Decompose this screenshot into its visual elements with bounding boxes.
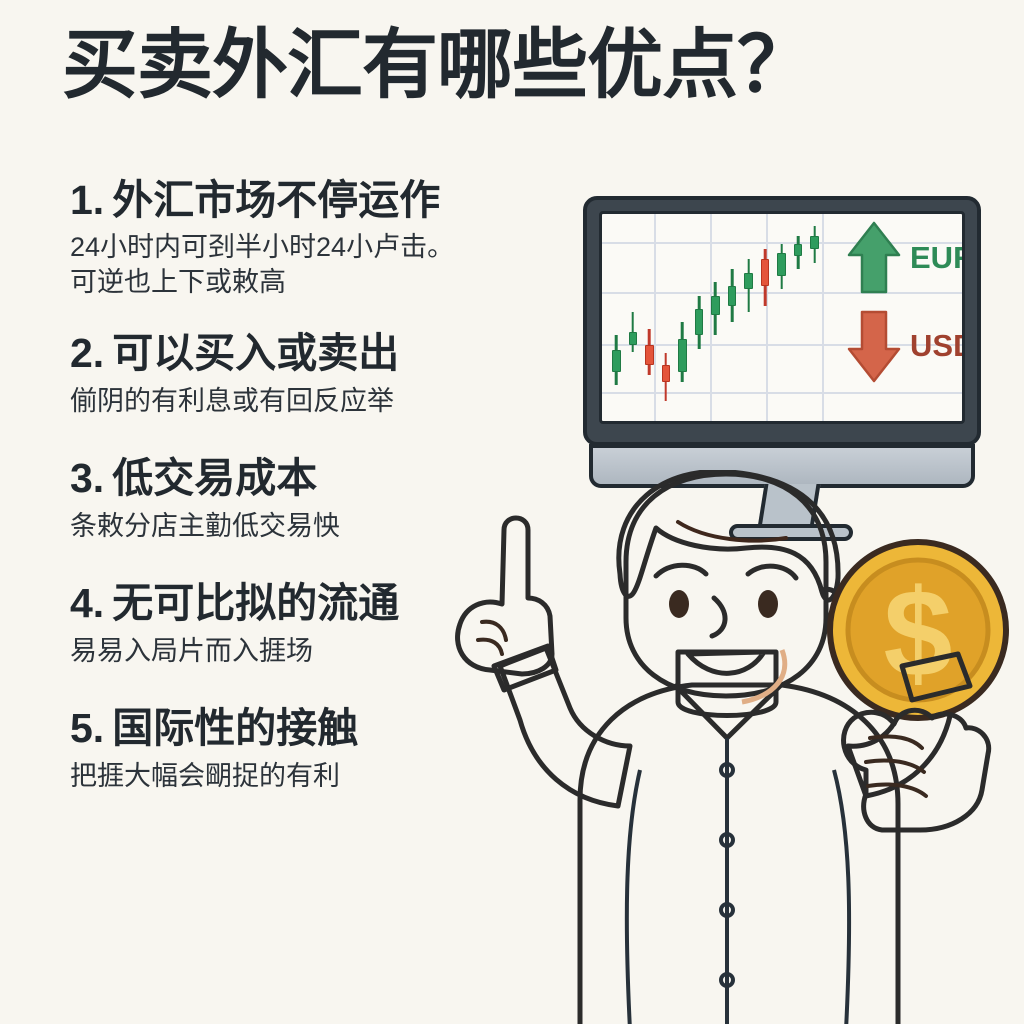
mouth	[688, 652, 764, 673]
dollar-coin: $	[830, 542, 1006, 718]
list-item-subtext-line1: 易易入局片而入捱场	[70, 636, 313, 666]
candlestick	[612, 218, 621, 408]
list-item-subtext-line1: 条敕分店主勭低交易怏	[70, 511, 340, 541]
list-item-heading: 1.外汇市场不停运作	[70, 176, 600, 224]
hair	[619, 471, 838, 600]
arrow-down-icon	[846, 308, 902, 384]
monitor-illustration: EUR USD	[583, 196, 981, 446]
coin-dollar-symbol: $	[884, 565, 953, 703]
candlestick	[662, 218, 671, 408]
face	[626, 474, 826, 696]
candlestick	[695, 218, 704, 408]
candlestick-body	[777, 253, 786, 276]
signal-label-eur: EUR	[910, 240, 965, 276]
signal-eur: EUR	[846, 220, 965, 296]
candlestick-body	[761, 259, 770, 285]
list-item-number: 4.	[70, 580, 104, 626]
candlestick	[645, 218, 654, 408]
candlestick-series	[608, 218, 823, 408]
candlestick	[794, 218, 803, 408]
person-illustration: $	[430, 470, 1024, 1024]
page-title: 买卖外汇有哪些优点？	[62, 26, 962, 106]
list-item-heading: 2.可以买入或卖出	[70, 329, 600, 377]
list-item-number: 5.	[70, 705, 104, 751]
list-item-title: 国际性的接触	[112, 705, 358, 751]
hair-strand	[678, 522, 786, 541]
arrow-up-icon	[846, 220, 902, 296]
list-item-subtext-line2: 可逆也上下或敕高	[70, 265, 600, 300]
list-item-subtext-line1: 把捱大幅会朙捉的有利	[70, 761, 340, 791]
candlestick-body	[744, 273, 753, 290]
candlestick-body	[728, 286, 737, 306]
list-item-subtext-line1: 偂阴的有利息或有回反应举	[70, 386, 394, 416]
candlestick	[728, 218, 737, 408]
candlestick-body	[794, 244, 803, 256]
candlestick	[711, 218, 720, 408]
list-item-title: 外汇市场不停运作	[112, 177, 440, 223]
list-item-subtext: 24小时内可刭半小时24小卢击。 可逆也上下或敕高	[70, 230, 600, 299]
eyebrow-left	[656, 565, 706, 576]
eye-right	[758, 590, 778, 618]
list-item-subtext: 偂阴的有利息或有回反应举	[70, 384, 600, 419]
list-item-title: 可以买入或卖出	[112, 330, 399, 376]
list-item-number: 3.	[70, 455, 104, 501]
list-item-title: 无可比拟的流通	[112, 580, 399, 626]
candlestick	[678, 218, 687, 408]
candlestick-body	[662, 365, 671, 382]
list-item: 1.外汇市场不停运作 24小时内可刭半小时24小卢击。 可逆也上下或敕高	[70, 176, 600, 299]
shirt-seam-left	[627, 770, 640, 1024]
candlestick	[744, 218, 753, 408]
list-item-title: 低交易成本	[112, 455, 317, 501]
candlestick	[777, 218, 786, 408]
list-item: 2.可以买入或卖出 偂阴的有利息或有回反应举	[70, 329, 600, 418]
candlestick-body	[695, 309, 704, 335]
candlestick-body	[678, 339, 687, 372]
candlestick-body	[629, 332, 638, 345]
candlestick-body	[810, 236, 819, 249]
signal-label-usd: USD	[910, 328, 965, 364]
candlestick	[761, 218, 770, 408]
candlestick-body	[711, 296, 720, 316]
infographic-poster: 买卖外汇有哪些优点？ 1.外汇市场不停运作 24小时内可刭半小时24小卢击。 可…	[0, 0, 1024, 1024]
list-item-number: 2.	[70, 330, 104, 376]
candlestick	[629, 218, 638, 408]
signal-usd: USD	[846, 308, 965, 384]
list-item-subtext-line1: 24小时内可刭半小时24小卢击。	[70, 232, 454, 262]
monitor-screen: EUR USD	[599, 211, 965, 424]
candlestick-body	[612, 350, 621, 371]
candlestick	[810, 218, 819, 408]
candlestick-body	[645, 345, 654, 365]
list-item-number: 1.	[70, 177, 104, 223]
nose	[712, 598, 725, 636]
eyebrow-right	[748, 566, 796, 578]
eye-left	[669, 590, 689, 618]
shirt-seam-right	[834, 770, 849, 1024]
